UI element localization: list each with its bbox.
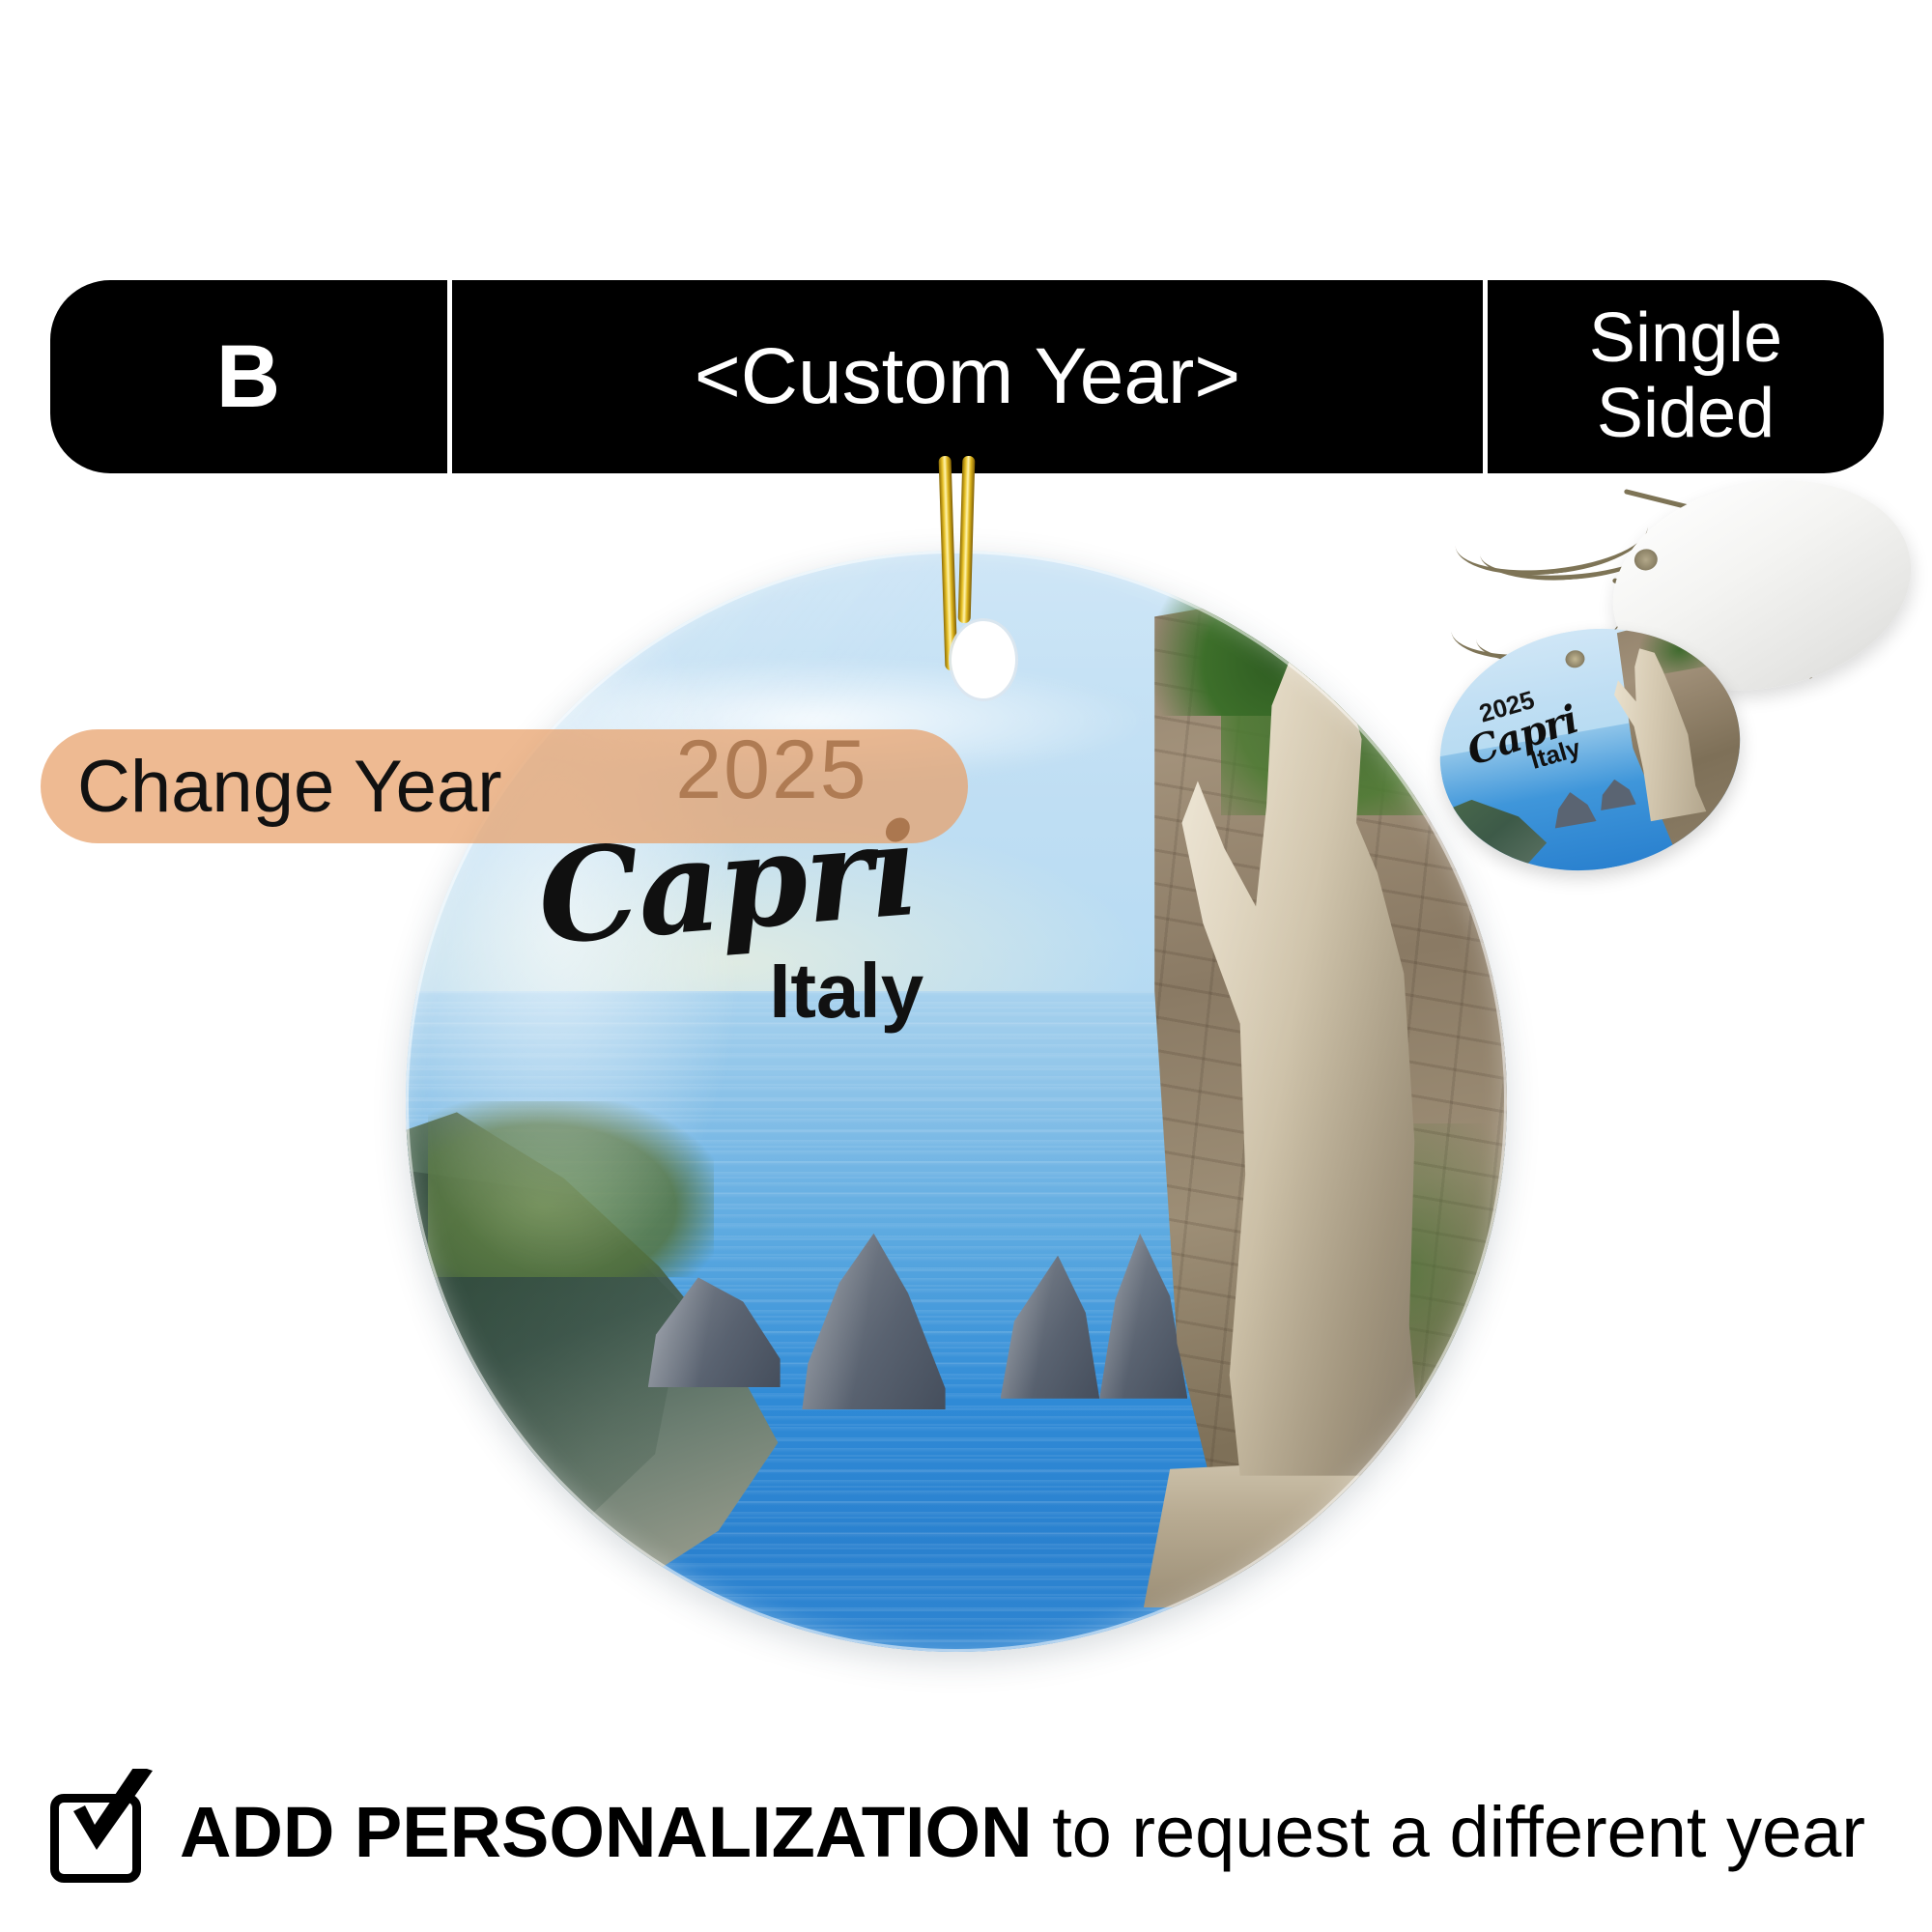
artwork-statue-plinth — [1144, 1454, 1474, 1608]
personalization-emphasis: ADD PERSONALIZATION — [180, 1792, 1033, 1872]
inset-blank-hole — [1633, 547, 1660, 573]
change-year-label: Change Year — [77, 745, 502, 829]
checkbox-checked-icon — [46, 1782, 147, 1883]
artwork-country-text: Italy — [769, 947, 923, 1036]
change-year-callout[interactable]: Change Year — [41, 729, 968, 843]
main-ornament: 2025 Capri Italy — [406, 551, 1507, 1652]
checkmark-glyph — [52, 1769, 160, 1877]
variant-title: <Custom Year> — [695, 337, 1240, 416]
variant-banner: B <Custom Year> Single Sided — [50, 280, 1884, 473]
ornament-cord-hole — [952, 621, 1015, 698]
variant-letter-cell: B — [50, 280, 447, 473]
personalization-text: ADD PERSONALIZATION to request a differe… — [180, 1797, 1865, 1868]
variant-letter: B — [216, 332, 281, 421]
cord-strand-left — [939, 456, 958, 670]
cord-strand-right — [958, 456, 976, 623]
variant-title-cell: <Custom Year> — [452, 280, 1483, 473]
ornament-inset-preview: 2025 Capri Italy — [1447, 481, 1930, 896]
sided-label-cell: Single Sided — [1488, 280, 1884, 473]
inset-ornament-printed-front: 2025 Capri Italy — [1421, 606, 1759, 894]
ornament-disc: 2025 Capri Italy — [406, 551, 1507, 1652]
sided-label-line1: Single — [1589, 301, 1782, 377]
personalization-footer: ADD PERSONALIZATION to request a differe… — [46, 1760, 1891, 1905]
artwork-tree-foliage — [1154, 551, 1397, 716]
personalization-rest: to request a different year — [1033, 1792, 1866, 1872]
sided-label-line2: Sided — [1597, 377, 1775, 452]
artwork-headland-foliage — [428, 1101, 714, 1277]
product-listing-image: B <Custom Year> Single Sided — [0, 0, 1932, 1932]
